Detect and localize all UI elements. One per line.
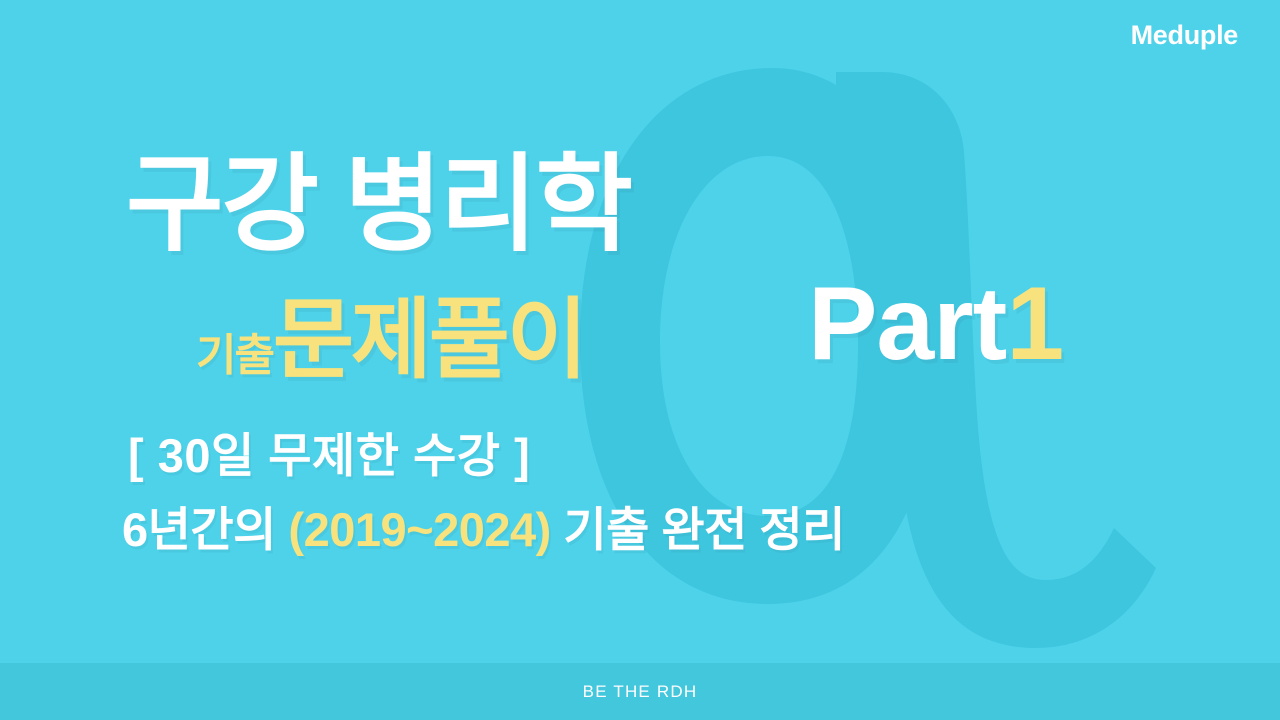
subtitle-group: 기출 문제풀이 — [196, 296, 585, 384]
page-title: 구강 병리학 — [126, 152, 631, 258]
subtitle-main: 문제풀이 — [273, 296, 585, 384]
subtitle-prefix: 기출 — [196, 334, 273, 384]
brand-logo: Meduple — [1131, 22, 1238, 49]
part-number: 1 — [1006, 266, 1063, 382]
part-word: Part — [808, 266, 1006, 382]
coverage-suffix: 기출 완전 정리 — [551, 503, 845, 556]
hero-content: 구강 병리학 기출 문제풀이 Part1 [ 30일 무제한 수강 ] 6년간의… — [0, 0, 1280, 663]
feature-line-coverage: 6년간의 (2019~2024) 기출 완전 정리 — [122, 506, 845, 553]
footer-bar: BE THE RDH — [0, 663, 1280, 720]
promo-slide: Meduple 구강 병리학 기출 문제풀이 Part1 [ 30일 무제한 수… — [0, 0, 1280, 720]
coverage-prefix: 6년간의 — [122, 503, 288, 556]
feature-line-duration: [ 30일 무제한 수강 ] — [128, 432, 530, 479]
footer-tagline: BE THE RDH — [583, 683, 698, 700]
coverage-years: (2019~2024) — [288, 503, 550, 556]
part-label: Part1 — [808, 272, 1063, 376]
